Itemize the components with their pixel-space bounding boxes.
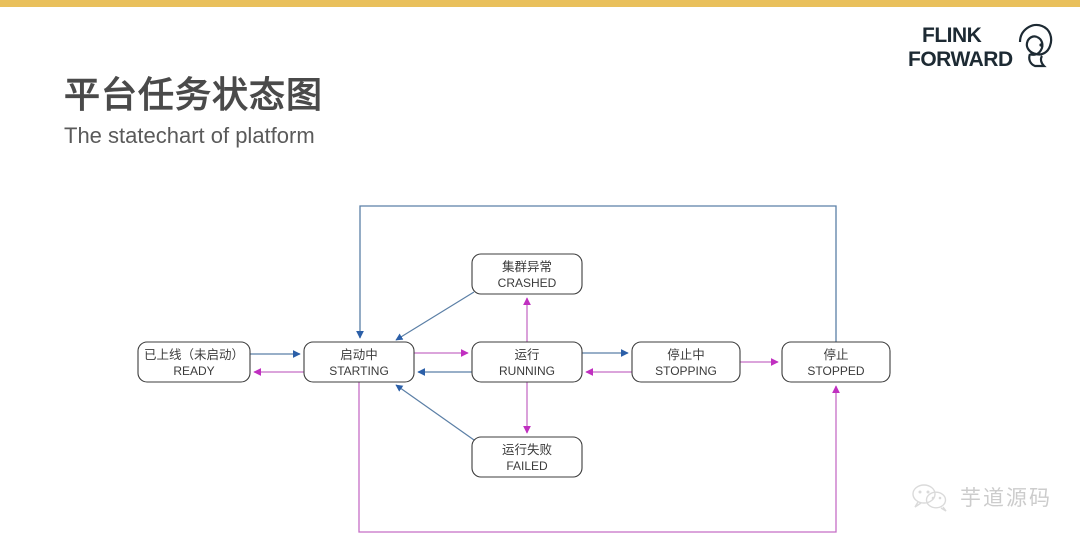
state-node-stopped-label-cn: 停止: [823, 347, 848, 362]
state-node-starting-label-cn: 启动中: [340, 347, 378, 362]
watermark: 芋道源码: [909, 482, 1052, 512]
edge-stopped-to-starting-loop: [360, 206, 836, 342]
state-node-failed-label-en: FAILED: [506, 459, 548, 473]
state-node-crashed[interactable]: 集群异常 CRASHED: [472, 254, 582, 294]
state-node-crashed-label-cn: 集群异常: [502, 259, 552, 274]
nodes-layer: 已上线（未启动） READY 启动中 STARTING 集群异常 CRASHED…: [138, 254, 890, 477]
state-node-ready-label-en: READY: [173, 364, 214, 378]
state-node-crashed-label-en: CRASHED: [498, 276, 557, 290]
edge-crashed-to-starting: [396, 292, 474, 340]
state-node-stopping-label-en: STOPPING: [655, 364, 717, 378]
edge-starting-to-stopped-loop: [359, 382, 836, 532]
state-node-running-label-cn: 运行: [514, 348, 539, 362]
state-node-stopped-label-en: STOPPED: [807, 364, 864, 378]
state-node-stopping[interactable]: 停止中 STOPPING: [632, 342, 740, 382]
state-node-running[interactable]: 运行 RUNNING: [472, 342, 582, 382]
state-node-starting[interactable]: 启动中 STARTING: [304, 342, 414, 382]
state-node-stopped[interactable]: 停止 STOPPED: [782, 342, 890, 382]
state-node-ready-label-cn: 已上线（未启动）: [144, 348, 244, 362]
watermark-text: 芋道源码: [960, 482, 1052, 512]
state-node-failed[interactable]: 运行失败 FAILED: [472, 437, 582, 477]
state-node-ready[interactable]: 已上线（未启动） READY: [138, 342, 250, 382]
state-node-running-label-en: RUNNING: [499, 364, 555, 378]
state-node-failed-label-cn: 运行失败: [502, 442, 553, 457]
state-node-starting-label-en: STARTING: [329, 364, 389, 378]
wechat-icon: [909, 482, 951, 512]
statechart-diagram: 已上线（未启动） READY 启动中 STARTING 集群异常 CRASHED…: [0, 0, 1080, 546]
edge-failed-to-starting: [396, 385, 474, 440]
state-node-stopping-label-cn: 停止中: [667, 347, 705, 362]
